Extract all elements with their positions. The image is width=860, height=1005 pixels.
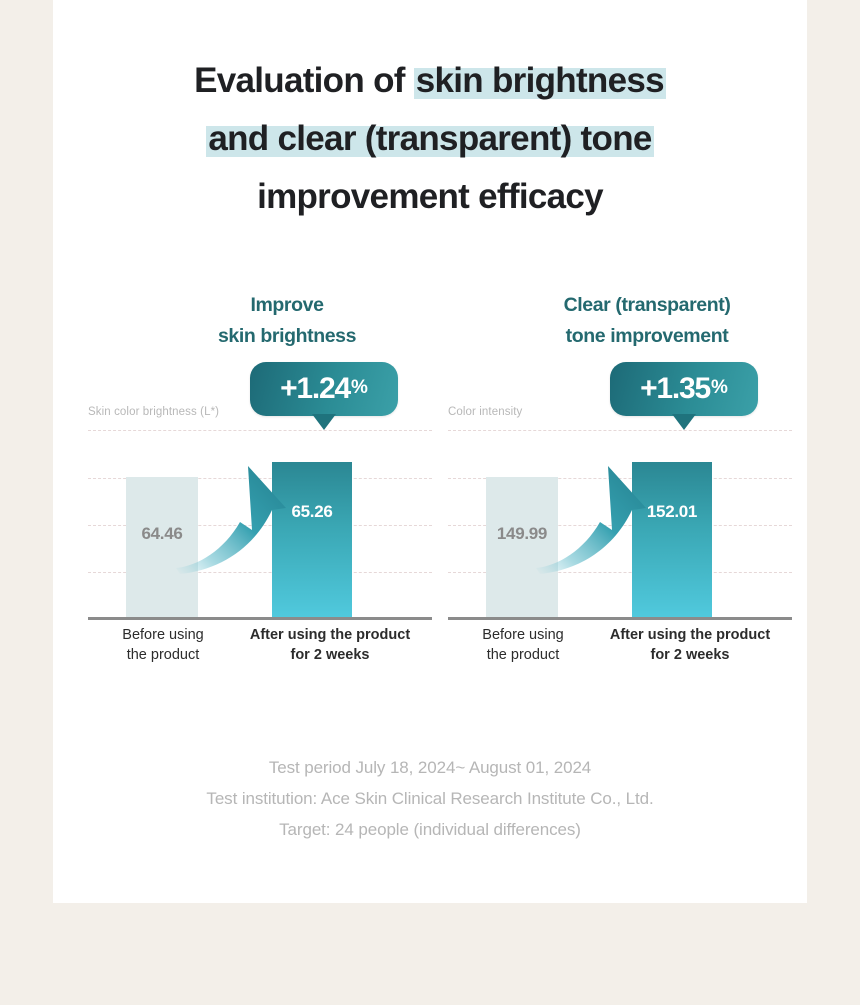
x-label-after-line-2: for 2 weeks — [596, 645, 784, 665]
chart-heading-line-2: skin brightness — [142, 321, 432, 352]
title-line-2: and clear (transparent) tone — [53, 110, 807, 168]
chart-panel-tone-improvement: Clear (transparent) tone improvement +1.… — [440, 280, 800, 680]
improvement-badge-pill: +1.35% — [610, 362, 758, 416]
chart-heading-line-2: tone improvement — [502, 321, 792, 352]
title-line-1-highlight: skin brightness — [414, 61, 666, 100]
y-axis-caption: Color intensity — [448, 406, 522, 418]
improvement-badge-value: +1.24 — [280, 374, 350, 404]
x-label-before: Before using the product — [98, 625, 228, 665]
bar-before: 64.46 — [126, 477, 198, 617]
bar-after: 65.26 — [272, 462, 352, 617]
footnote-test-period: Test period July 18, 2024~ August 01, 20… — [53, 752, 807, 783]
x-axis-baseline — [448, 617, 792, 620]
improvement-badge-pill: +1.24% — [250, 362, 398, 416]
x-label-after: After using the product for 2 weeks — [596, 625, 784, 665]
title-line-2-highlight: and clear (transparent) tone — [206, 119, 653, 158]
x-label-before-line-2: the product — [458, 645, 588, 665]
title-line-1: Evaluation of skin brightness — [53, 52, 807, 110]
improvement-badge: +1.35% — [610, 362, 758, 424]
bar-before-value: 64.46 — [126, 524, 198, 544]
x-axis-labels: Before using the product After using the… — [448, 625, 792, 673]
y-axis-caption: Skin color brightness (L*) — [88, 406, 219, 418]
gridline — [448, 430, 792, 431]
page-title: Evaluation of skin brightness and clear … — [53, 52, 807, 226]
bar-after-value: 152.01 — [632, 502, 712, 522]
improvement-badge-value: +1.35 — [640, 374, 710, 404]
bar-after-value: 65.26 — [272, 502, 352, 522]
chart-heading-line-1: Clear (transparent) — [502, 290, 792, 321]
title-line-1-plain: Evaluation of — [194, 61, 414, 100]
title-line-3: improvement efficacy — [53, 168, 807, 226]
x-axis-labels: Before using the product After using the… — [88, 625, 432, 673]
gridline — [88, 430, 432, 431]
improvement-badge-percent: % — [351, 378, 368, 397]
chart-heading: Improve skin brightness — [142, 290, 432, 352]
bar-before-value: 149.99 — [486, 524, 558, 544]
x-label-after-line-1: After using the product — [596, 625, 784, 645]
chart-heading-line-1: Improve — [142, 290, 432, 321]
x-label-after: After using the product for 2 weeks — [236, 625, 424, 665]
plot-area: 149.99 152.01 — [448, 430, 792, 620]
x-label-after-line-1: After using the product — [236, 625, 424, 645]
x-label-before: Before using the product — [458, 625, 588, 665]
page-root: Evaluation of skin brightness and clear … — [0, 0, 860, 1005]
improvement-badge-percent: % — [711, 378, 728, 397]
footnote-test-institution: Test institution: Ace Skin Clinical Rese… — [53, 783, 807, 814]
plot-area: 64.46 65.26 — [88, 430, 432, 620]
bar-after: 152.01 — [632, 462, 712, 617]
study-footnote: Test period July 18, 2024~ August 01, 20… — [53, 752, 807, 845]
x-axis-baseline — [88, 617, 432, 620]
improvement-badge-tail-icon — [672, 414, 696, 430]
content-card: Evaluation of skin brightness and clear … — [53, 0, 807, 903]
improvement-badge: +1.24% — [250, 362, 398, 424]
chart-heading: Clear (transparent) tone improvement — [502, 290, 792, 352]
x-label-before-line-2: the product — [98, 645, 228, 665]
x-label-after-line-2: for 2 weeks — [236, 645, 424, 665]
x-label-before-line-1: Before using — [458, 625, 588, 645]
improvement-badge-tail-icon — [312, 414, 336, 430]
bar-before: 149.99 — [486, 477, 558, 617]
chart-panel-skin-brightness: Improve skin brightness +1.24% Skin colo… — [80, 280, 440, 680]
footnote-target: Target: 24 people (individual difference… — [53, 814, 807, 845]
x-label-before-line-1: Before using — [98, 625, 228, 645]
